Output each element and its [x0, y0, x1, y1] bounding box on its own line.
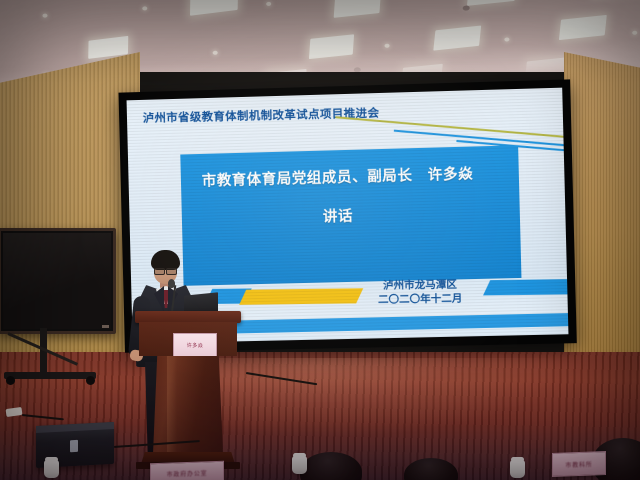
- ceiling-downlight: [213, 51, 218, 55]
- ceiling-downlight: [42, 13, 47, 17]
- ceiling-downlight: [266, 2, 271, 6]
- wall-display-on-cart: [0, 228, 116, 334]
- ceiling-downlight: [384, 44, 389, 48]
- ceiling-panel-light: [334, 0, 381, 18]
- slide-footer-date: 二〇二〇年十二月: [358, 292, 483, 308]
- speaker-badge: [70, 440, 78, 452]
- table-namecard-text: 市教科所: [565, 459, 592, 469]
- table-namecard: 市教科所: [552, 451, 606, 477]
- teacup: [510, 460, 525, 478]
- slide-footer: 泸州市龙马潭区 二〇二〇年十二月: [358, 277, 483, 307]
- glasses-icon: [154, 268, 177, 273]
- hair: [151, 250, 180, 270]
- podium-column: [153, 356, 223, 454]
- blue-diagonal-line-1: [394, 130, 569, 148]
- blue-parallelogram-right: [483, 279, 568, 295]
- ceiling-downlight: [504, 37, 509, 41]
- ceiling-panel-light: [88, 36, 128, 59]
- microphone-head-icon: [168, 279, 175, 288]
- smoke-detector-icon: [463, 5, 470, 10]
- display-stand-wheel: [86, 376, 95, 385]
- teacup: [292, 456, 307, 474]
- ceiling-panel-light: [190, 0, 238, 16]
- conference-photo: 泸州市省级教育体制机制改革试点项目推进会 市教育体育局党组成员、副局长 许多焱 …: [0, 0, 640, 480]
- podium: 许多焱: [139, 311, 237, 469]
- teacup: [44, 460, 59, 478]
- slide-title: 泸州市省级教育体制机制改革试点项目推进会: [143, 105, 380, 126]
- table-namecard: 市政府办公室: [150, 461, 224, 480]
- display-logo: [102, 325, 109, 328]
- ceiling-downlight: [632, 31, 637, 35]
- podium-nameplate: 许多焱: [173, 333, 217, 358]
- display-screen: [3, 233, 111, 329]
- ceiling-panel-light: [467, 0, 517, 6]
- display-stand-wheel: [6, 376, 15, 385]
- podium-front-panel: 许多焱: [139, 322, 237, 356]
- display-stand-base: [4, 372, 96, 379]
- ceiling-panel-light: [433, 25, 481, 50]
- ceiling-panel-light: [559, 15, 607, 40]
- ceiling-panel-light: [309, 34, 354, 59]
- podium-nameplate-text: 许多焱: [187, 342, 204, 349]
- ceiling-downlight: [142, 6, 147, 10]
- table-namecard-text: 市政府办公室: [167, 468, 208, 478]
- yellow-parallelogram: [239, 288, 363, 305]
